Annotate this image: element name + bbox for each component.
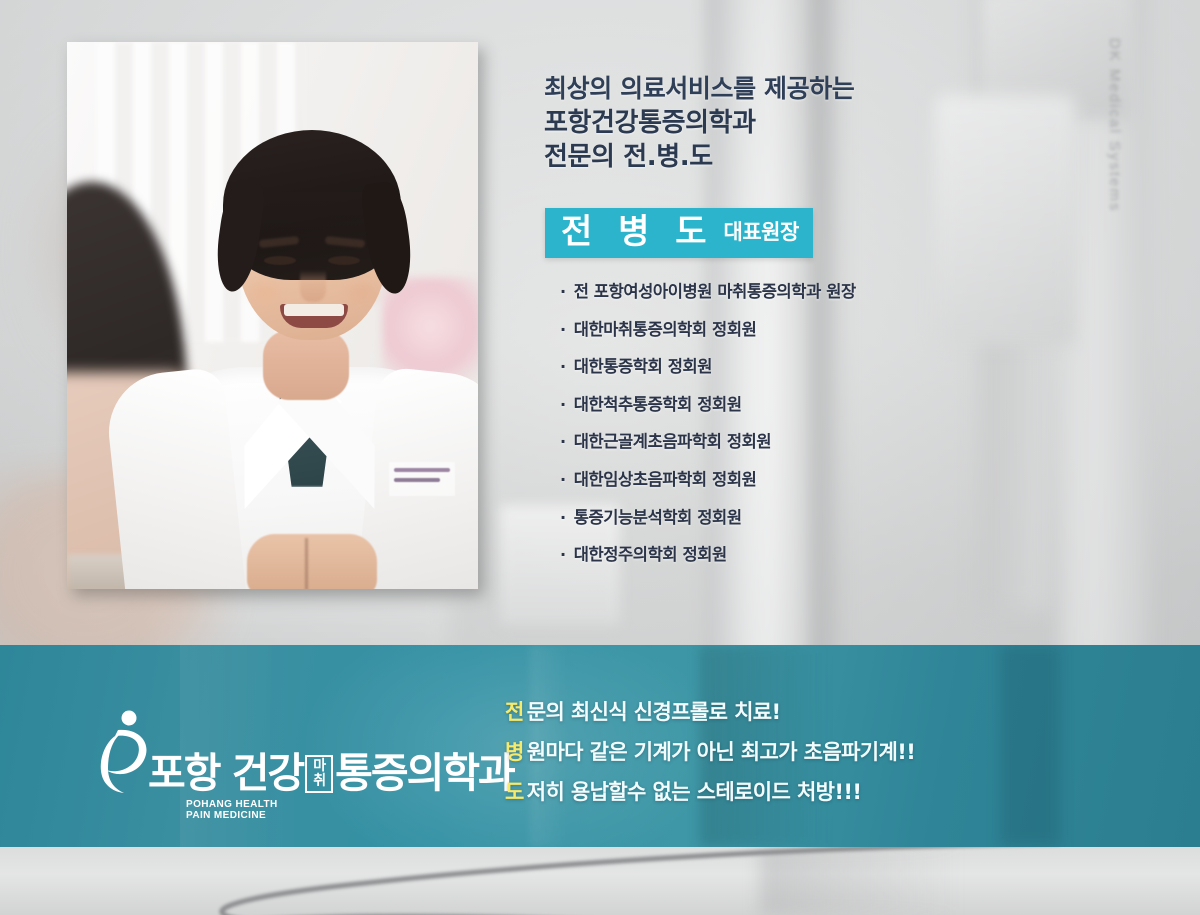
clinic-logo: 포항 건강 마 취 통증의학과 POHANG HEALTH PAIN MEDIC… <box>88 710 514 794</box>
photo-eye-left <box>264 256 296 265</box>
slogan-line: 전문의 최신식 신경프롤로 치료! <box>505 692 915 732</box>
credential-text: 대한근골계초음파학회 정회원 <box>574 432 771 452</box>
headline-block: 최상의 의료서비스를 제공하는 포항건강통증의학과 전문의 전.병.도 <box>544 72 854 175</box>
photo-hands <box>247 534 377 589</box>
credential-text: 대한척추통증학회 정회원 <box>574 395 742 415</box>
doctor-photo <box>67 42 478 589</box>
banner-stage: DK Medical Systems <box>0 0 1200 915</box>
photo-coat-left <box>103 366 247 589</box>
photo-eye-right <box>328 256 360 265</box>
logo-en-line2: PAIN MEDICINE <box>186 810 278 821</box>
photo-cheek-left <box>245 278 285 308</box>
logo-anesthesia-stamp: 마 취 <box>305 755 333 793</box>
bullet-icon: · <box>560 545 566 565</box>
credentials-list: · 전 포항여성아이병원 마취통증의학과 원장 · 대한마취통증의학회 정회원 … <box>560 282 1120 583</box>
photo-name-tag <box>389 462 455 496</box>
bullet-icon: · <box>560 432 566 452</box>
bullet-icon: · <box>560 282 566 302</box>
photo-teeth <box>284 304 344 316</box>
bullet-icon: · <box>560 395 566 415</box>
list-item: · 대한마취통증의학회 정회원 <box>560 320 1120 358</box>
bottom-strip <box>0 847 1200 915</box>
list-item: · 대한정주의학회 정회원 <box>560 545 1120 583</box>
bullet-icon: · <box>560 320 566 340</box>
photo-neck <box>263 330 349 400</box>
list-item: · 대한통증학회 정회원 <box>560 357 1120 395</box>
credential-text: 대한정주의학회 정회원 <box>574 545 727 565</box>
slogan-line: 병원마다 같은 기계가 아닌 최고가 초음파기계!! <box>505 732 915 772</box>
slogan-block: 전문의 최신식 신경프롤로 치료! 병원마다 같은 기계가 아닌 최고가 초음파… <box>505 692 915 812</box>
band-shadow-right <box>1000 645 1060 847</box>
photo-hand-gap <box>305 538 308 589</box>
headline-line-1: 최상의 의료서비스를 제공하는 <box>544 72 854 106</box>
slogan-lead-char: 도 <box>505 780 524 804</box>
credential-text: 대한마취통증의학회 정회원 <box>574 320 757 340</box>
slogan-lead-char: 전 <box>505 700 524 724</box>
credential-text: 대한임상초음파학회 정회원 <box>574 470 757 490</box>
doctor-name: 전 병 도 <box>561 215 714 252</box>
slogan-text: 문의 최신식 신경프롤로 치료! <box>527 700 781 724</box>
logo-stamp-top: 마 <box>313 759 325 774</box>
slogan-lead-char: 병 <box>505 740 524 764</box>
photo-cheek-right <box>342 278 382 308</box>
doctor-name-badge: 전 병 도 대표원장 <box>545 208 813 258</box>
logo-english-name: POHANG HEALTH PAIN MEDICINE <box>186 799 278 821</box>
slogan-line: 도저히 용납할수 없는 스테로이드 처방!!! <box>505 772 915 812</box>
slogan-text: 저히 용납할수 없는 스테로이드 처방!!! <box>527 780 862 804</box>
logo-wordmark: 포항 건강 마 취 통증의학과 POHANG HEALTH PAIN MEDIC… <box>148 753 514 794</box>
photo-nose <box>300 270 326 302</box>
bottom-cable <box>0 847 1200 915</box>
list-item: · 통증기능분석학회 정회원 <box>560 508 1120 546</box>
credential-text: 전 포항여성아이병원 마취통증의학과 원장 <box>574 282 856 302</box>
headline-line-2: 포항건강통증의학과 <box>544 106 854 141</box>
logo-kr-part1: 포항 건강 <box>148 753 303 794</box>
logo-korean-name: 포항 건강 마 취 통증의학과 <box>148 753 514 794</box>
doctor-role: 대표원장 <box>724 222 799 245</box>
pohang-p-icon <box>88 710 154 794</box>
bullet-icon: · <box>560 508 566 528</box>
bullet-icon: · <box>560 470 566 490</box>
credential-text: 대한통증학회 정회원 <box>574 357 712 377</box>
logo-stamp-bottom: 취 <box>313 774 325 789</box>
headline-line-3: 전문의 전.병.도 <box>544 140 854 175</box>
list-item: · 대한척추통증학회 정회원 <box>560 395 1120 433</box>
slogan-text: 원마다 같은 기계가 아닌 최고가 초음파기계!! <box>527 740 915 764</box>
logo-kr-part2: 통증의학과 <box>335 753 514 794</box>
list-item: · 대한임상초음파학회 정회원 <box>560 470 1120 508</box>
logo-en-line1: POHANG HEALTH <box>186 799 278 810</box>
list-item: · 전 포항여성아이병원 마취통증의학과 원장 <box>560 282 1120 320</box>
photo-mouth <box>280 304 348 328</box>
bullet-icon: · <box>560 357 566 377</box>
list-item: · 대한근골계초음파학회 정회원 <box>560 432 1120 470</box>
credential-text: 통증기능분석학회 정회원 <box>574 508 742 528</box>
